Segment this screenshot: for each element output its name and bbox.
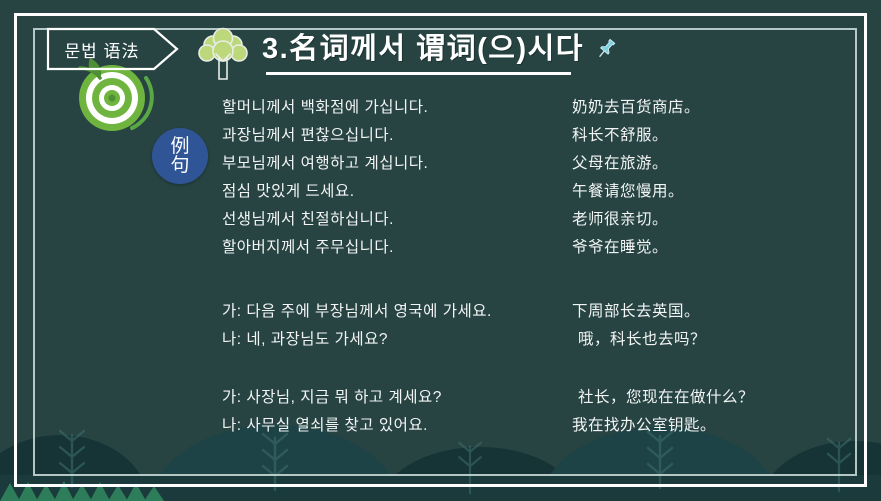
dialogue-korean: 나: 네, 과장님도 가세요?	[222, 327, 572, 349]
dialogue-korean: 가: 사장님, 지금 뭐 하고 계세요?	[222, 385, 572, 407]
sentence-korean: 과장님께서 편찮으십니다.	[222, 123, 572, 145]
table-row: 선생님께서 친절하십니다. 老师很亲切。	[222, 207, 842, 235]
sprig-icon	[452, 441, 488, 495]
dialogue-korean: 나: 사무실 열쇠를 찾고 있어요.	[222, 413, 572, 435]
table-row: 가: 다음 주에 부장님께서 영국에 가세요. 下周部长去英国。	[222, 299, 842, 327]
table-row: 과장님께서 편찮으십니다. 科长不舒服。	[222, 123, 842, 151]
sentence-korean: 할아버지께서 주무십니다.	[222, 235, 572, 257]
pushpin-icon	[594, 37, 618, 61]
sentence-chinese: 老师很亲切。	[572, 207, 842, 229]
dialogue-chinese: 我在找办公室钥匙。	[572, 413, 842, 435]
sentence-korean: 할머니께서 백화점에 가십니다.	[222, 95, 572, 117]
table-row: 나: 네, 과장님도 가세요? 哦，科长也去吗？	[222, 327, 842, 355]
grass-icon	[0, 481, 190, 501]
table-row: 부모님께서 여행하고 계십니다. 父母在旅游。	[222, 151, 842, 179]
table-row: 할머니께서 백화점에 가십니다. 奶奶去百货商店。	[222, 95, 842, 123]
dialogue-chinese: 社长，您现在在做什么？	[572, 385, 842, 407]
example-sentence-list: 할머니께서 백화점에 가십니다. 奶奶去百货商店。 과장님께서 편찮으십니다. …	[222, 95, 842, 263]
tree-icon	[197, 27, 249, 82]
sprig-icon	[52, 429, 92, 489]
sentence-chinese: 父母在旅游。	[572, 151, 842, 173]
example-badge: 例 句	[152, 128, 208, 184]
example-badge-line1: 例	[170, 137, 189, 156]
dialogue-block-1: 가: 다음 주에 부장님께서 영국에 가세요. 下周部长去英国。 나: 네, 과…	[222, 299, 842, 355]
spacer	[222, 263, 842, 299]
content-area: 할머니께서 백화점에 가십니다. 奶奶去百货商店。 과장님께서 편찮으십니다. …	[222, 95, 842, 441]
sentence-chinese: 午餐请您慢用。	[572, 179, 842, 201]
section-banner: 문법 语法	[46, 27, 180, 71]
sprig-icon	[820, 437, 858, 493]
sentence-korean: 점심 맛있게 드세요.	[222, 179, 572, 201]
dialogue-korean: 가: 다음 주에 부장님께서 영국에 가세요.	[222, 299, 572, 321]
dialogue-chinese: 下周部长去英国。	[572, 299, 842, 321]
table-row: 할아버지께서 주무십니다. 爷爷在睡觉。	[222, 235, 842, 263]
table-row: 가: 사장님, 지금 뭐 하고 계세요? 社长，您现在在做什么？	[222, 385, 842, 413]
slide-title-wrap: 3.名词께서 谓词(으)시다	[262, 25, 618, 67]
sentence-chinese: 爷爷在睡觉。	[572, 235, 842, 257]
title-underline	[266, 72, 571, 75]
page-title: 3.名词께서 谓词(으)시다	[262, 25, 584, 67]
sentence-korean: 선생님께서 친절하십니다.	[222, 207, 572, 229]
table-row: 나: 사무실 열쇠를 찾고 있어요. 我在找办公室钥匙。	[222, 413, 842, 441]
example-badge-line2: 句	[170, 156, 189, 175]
dialogue-chinese: 哦，科长也去吗？	[572, 327, 842, 349]
slide-canvas: 문법 语法 3.名词께서 谓词(으)시다 例 句	[0, 0, 881, 501]
dialogue-block-2: 가: 사장님, 지금 뭐 하고 계세요? 社长，您现在在做什么？ 나: 사무실 …	[222, 385, 842, 441]
spacer	[222, 355, 842, 385]
section-banner-label: 문법 语法	[46, 27, 158, 71]
table-row: 점심 맛있게 드세요. 午餐请您慢用。	[222, 179, 842, 207]
sentence-chinese: 科长不舒服。	[572, 123, 842, 145]
sentence-chinese: 奶奶去百货商店。	[572, 95, 842, 117]
sentence-korean: 부모님께서 여행하고 계십니다.	[222, 151, 572, 173]
